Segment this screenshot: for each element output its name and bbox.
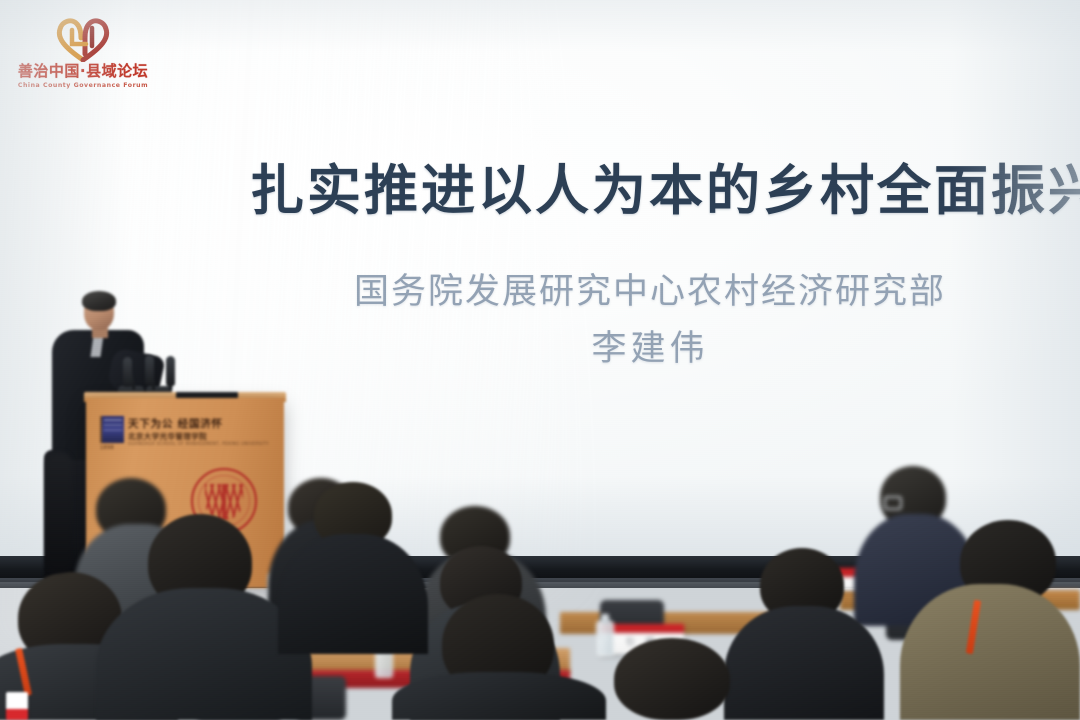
person-head bbox=[614, 638, 730, 720]
person-shoulders bbox=[278, 534, 428, 654]
water-bottle-icon bbox=[596, 620, 614, 656]
name-badge-icon bbox=[6, 692, 28, 720]
person-shoulders bbox=[392, 672, 606, 720]
person-shoulders bbox=[900, 584, 1080, 720]
conference-photo: 善治中国·县域论坛 China County Governance Forum … bbox=[0, 0, 1080, 720]
person-shoulders bbox=[724, 606, 884, 720]
raised-arm bbox=[46, 452, 72, 572]
glasses-icon bbox=[884, 496, 902, 510]
audience-area: 引 娜 bbox=[0, 0, 1080, 720]
